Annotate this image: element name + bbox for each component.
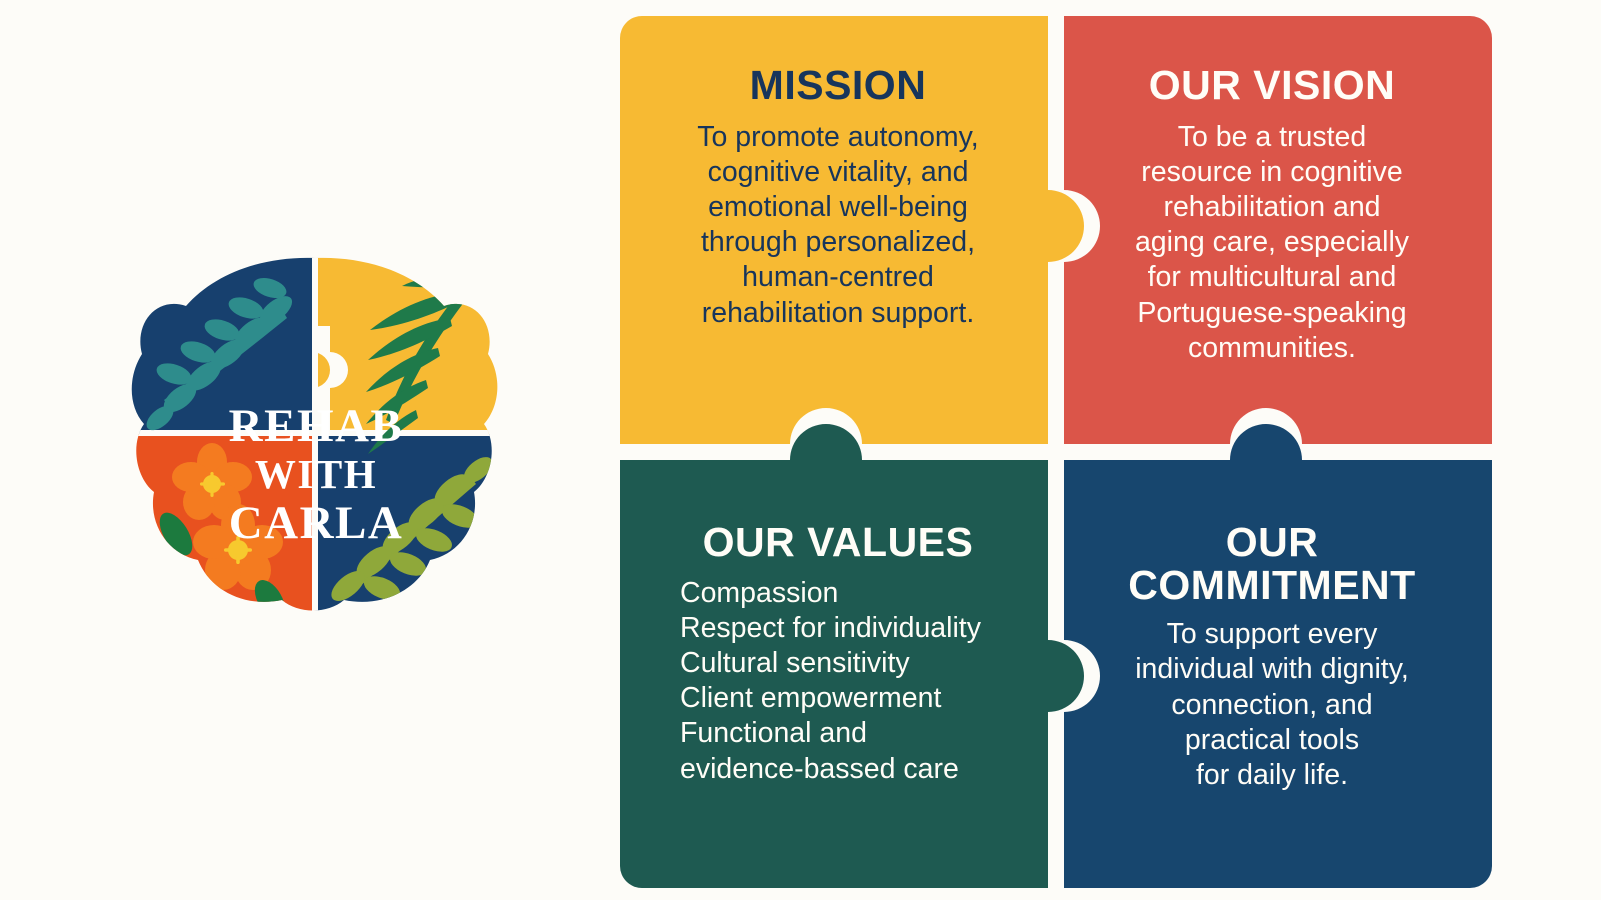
panel-values-shape[interactable]: [620, 424, 1084, 888]
panel-vision-shape[interactable]: [1064, 16, 1492, 444]
puzzle-graphic: [620, 16, 1492, 888]
logo: REHAB WITH CARLA: [130, 248, 500, 620]
infographic-canvas: REHAB WITH CARLA MISSION To promote auto…: [0, 0, 1601, 900]
logo-line-rehab: REHAB: [229, 400, 404, 452]
brain-logo-graphic: REHAB WITH CARLA: [130, 248, 500, 620]
logo-line-carla: CARLA: [229, 497, 404, 549]
panel-commitment-shape[interactable]: [1064, 424, 1492, 888]
panel-mission-shape[interactable]: [620, 16, 1084, 444]
logo-line-with: WITH: [255, 451, 377, 497]
puzzle-board: MISSION To promote autonomy, cognitive v…: [620, 16, 1492, 888]
